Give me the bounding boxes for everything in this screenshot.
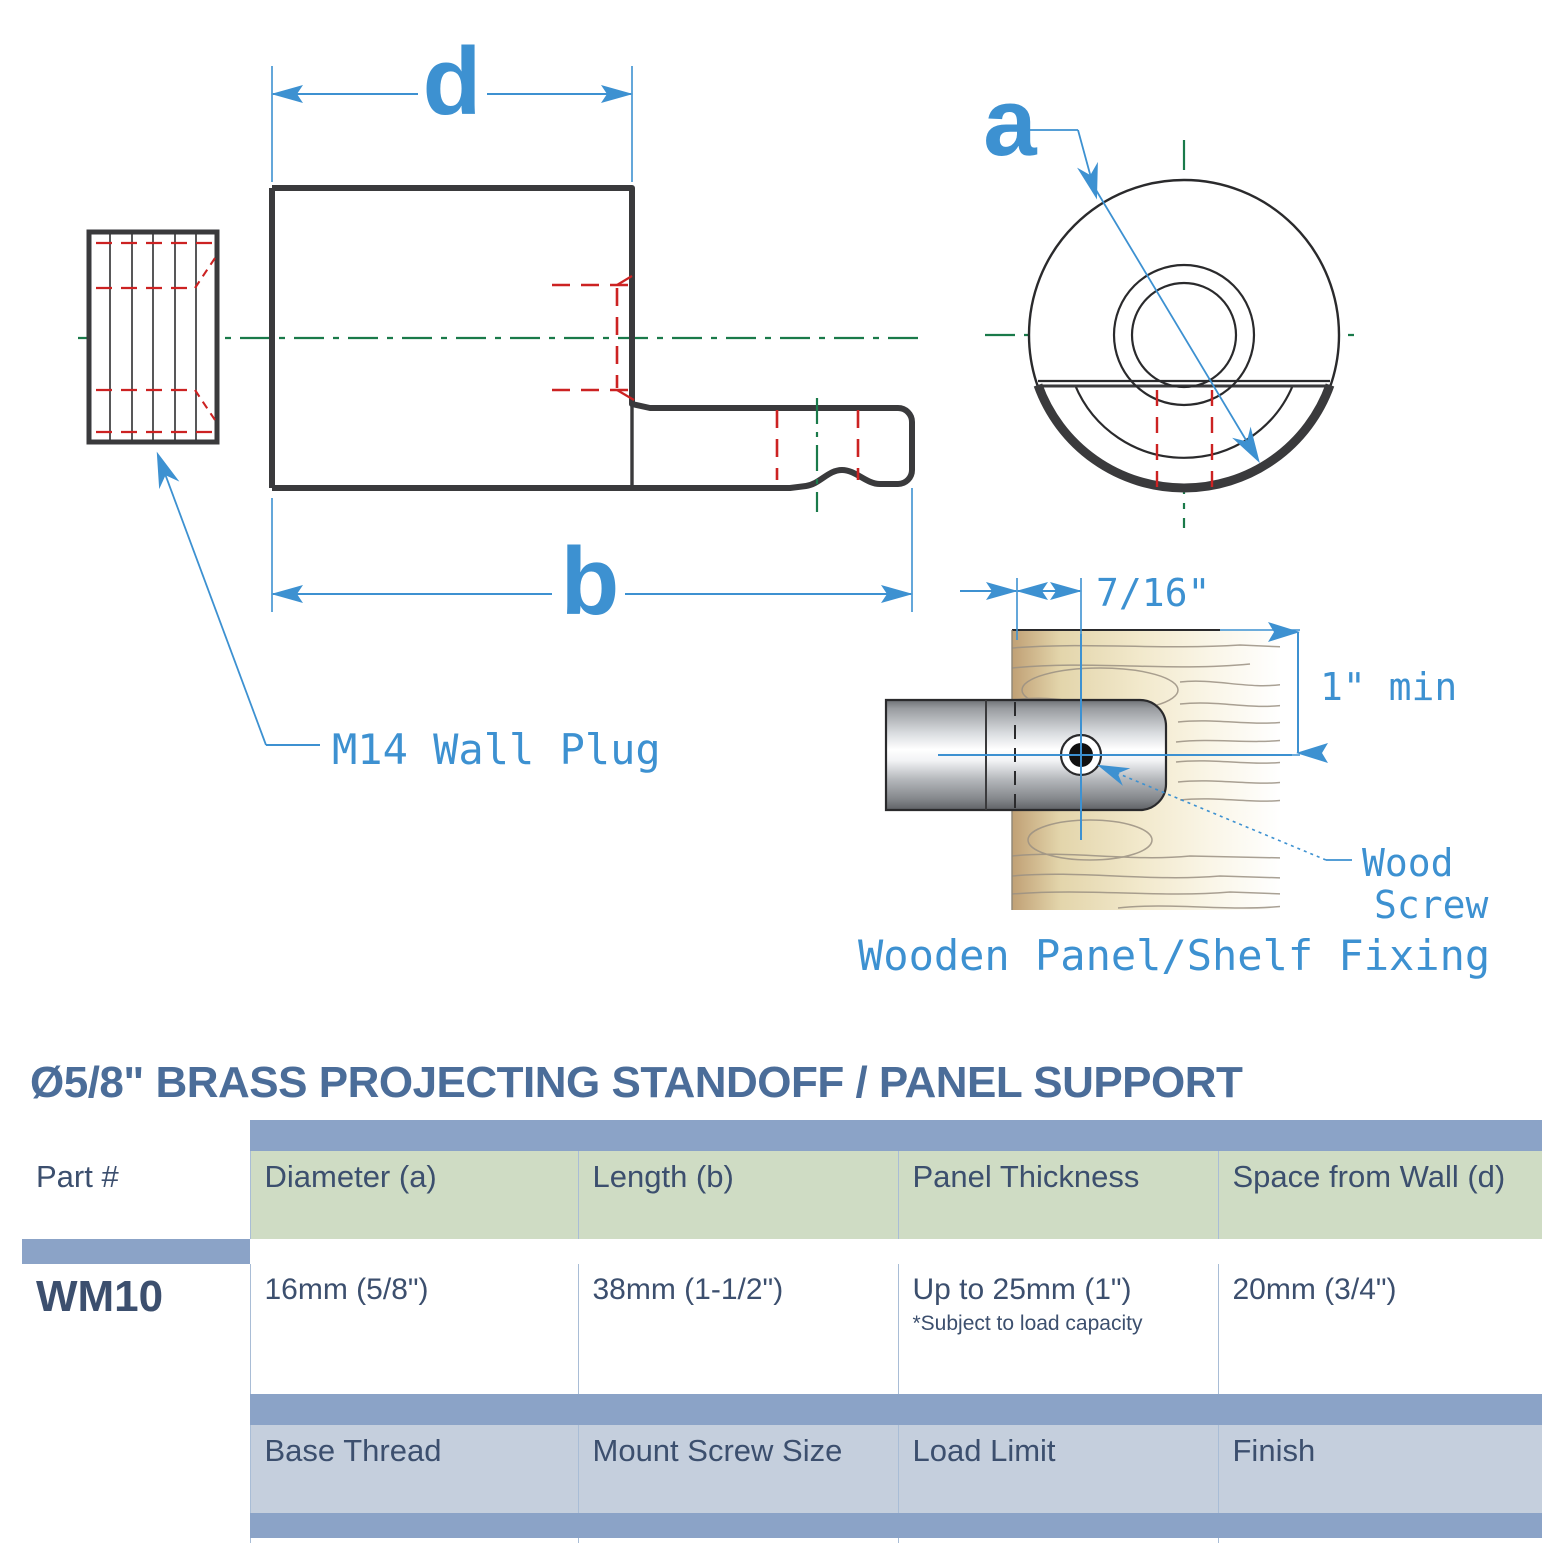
cell-part-number: WM10 <box>22 1264 250 1394</box>
header-space-from-wall-label: Space from Wall (d) <box>1233 1159 1506 1194</box>
fixing-caption: Wooden Panel/Shelf Fixing <box>858 931 1490 980</box>
header-panel-thickness: Panel Thickness <box>898 1151 1218 1239</box>
header-space-from-wall: Space from Wall (d) <box>1218 1151 1542 1239</box>
end-view: a <box>983 69 1362 528</box>
header-diameter: Diameter (a) <box>250 1151 578 1239</box>
table-rule-under-header-1 <box>22 1239 1542 1264</box>
dimension-b-label: b <box>561 528 620 635</box>
table-header-row-2: Base Thread Mount Screw Size Load Limit … <box>22 1425 1542 1513</box>
wood-screw-label-line2: Screw <box>1374 883 1489 927</box>
page-title: Ø5/8" BRASS PROJECTING STANDOFF / PANEL … <box>30 1058 1242 1108</box>
dimension-a-label: a <box>983 69 1037 176</box>
panel-min-label: 1" min <box>1320 665 1457 709</box>
header-mount-screw-size-label: Mount Screw Size <box>593 1433 843 1468</box>
technical-drawing: d b M14 Wall Plug <box>0 0 1542 1040</box>
cell-diameter-value: 16mm (5/8") <box>265 1273 429 1306</box>
table-top-rule <box>22 1120 1542 1151</box>
cell-length: 38mm (1-1/2") <box>578 1264 898 1394</box>
cell-panel-thickness-note: *Subject to load capacity <box>913 1313 1204 1335</box>
header-length: Length (b) <box>578 1151 898 1239</box>
spec-table: Part # Diameter (a) Length (b) Panel Thi… <box>22 1120 1542 1543</box>
dimension-d-label: d <box>423 28 482 135</box>
cell-panel-thickness: Up to 25mm (1") *Subject to load capacit… <box>898 1264 1218 1394</box>
table-row: M14 x 1.0 No. 8 screw 3.5kg (8lb) each *… <box>22 1538 1542 1543</box>
header-blank <box>22 1425 250 1513</box>
cell-mount-screw-size: No. 8 screw <box>578 1538 898 1543</box>
header-base-thread-label: Base Thread <box>265 1433 442 1468</box>
header-base-thread: Base Thread <box>250 1425 578 1513</box>
panel-offset-label: 7/16" <box>1096 571 1210 615</box>
header-diameter-label: Diameter (a) <box>265 1159 437 1194</box>
rule-spacer-3 <box>22 1394 250 1425</box>
wood-screw-label-line1: Wood <box>1362 841 1454 885</box>
header-load-limit: Load Limit <box>898 1425 1218 1513</box>
cell-length-value: 38mm (1-1/2") <box>593 1273 784 1306</box>
rule-spacer-2 <box>250 1239 1542 1264</box>
header-part-label: Part # <box>36 1159 119 1194</box>
rule-bar-3 <box>250 1513 1542 1538</box>
wall-plug-leader <box>158 455 320 745</box>
table-row: WM10 16mm (5/8") 38mm (1-1/2") Up to 25m… <box>22 1264 1542 1394</box>
wall-plug-detail <box>89 232 217 442</box>
body-outline <box>272 188 912 428</box>
cell-space-from-wall: 20mm (3/4") <box>1218 1264 1542 1394</box>
cell-finish: Satin Chrome <box>1218 1538 1542 1543</box>
cell-base-thread: M14 x 1.0 <box>250 1538 578 1543</box>
header-mount-screw-size: Mount Screw Size <box>578 1425 898 1513</box>
rule-bar <box>250 1120 1542 1151</box>
header-finish: Finish <box>1218 1425 1542 1513</box>
header-part: Part # <box>22 1151 250 1239</box>
table-mid-rule <box>22 1394 1542 1425</box>
rule-part-underline <box>22 1239 250 1264</box>
rule-spacer-4 <box>22 1513 250 1538</box>
cell-space-from-wall-value: 20mm (3/4") <box>1233 1273 1397 1306</box>
cell-panel-thickness-value: Up to 25mm (1") <box>913 1273 1132 1306</box>
table-header-row-1: Part # Diameter (a) Length (b) Panel Thi… <box>22 1151 1542 1239</box>
spec-block: Ø5/8" BRASS PROJECTING STANDOFF / PANEL … <box>0 1040 1542 1543</box>
side-section-view: d b M14 Wall Plug <box>78 28 925 774</box>
cell-load-limit: 3.5kg (8lb) each *Subject to fixing <box>898 1538 1218 1543</box>
header-panel-thickness-label: Panel Thickness <box>913 1159 1140 1194</box>
wall-plug-label: M14 Wall Plug <box>332 725 661 774</box>
header-load-limit-label: Load Limit <box>913 1433 1056 1468</box>
table-rule-under-header-2 <box>22 1513 1542 1538</box>
spec-sheet: d b M14 Wall Plug <box>0 0 1542 1543</box>
rule-spacer <box>22 1120 250 1151</box>
part-number-value: WM10 <box>36 1272 163 1321</box>
cell-blank <box>22 1538 250 1543</box>
header-length-label: Length (b) <box>593 1159 734 1194</box>
wooden-panel-fixing: 7/16" 1" min Wood Screw Wooden Panel/She… <box>858 571 1490 980</box>
rule-bar-2 <box>250 1394 1542 1425</box>
header-finish-label: Finish <box>1233 1433 1316 1468</box>
cell-diameter: 16mm (5/8") <box>250 1264 578 1394</box>
dimension-d: d <box>272 28 632 182</box>
